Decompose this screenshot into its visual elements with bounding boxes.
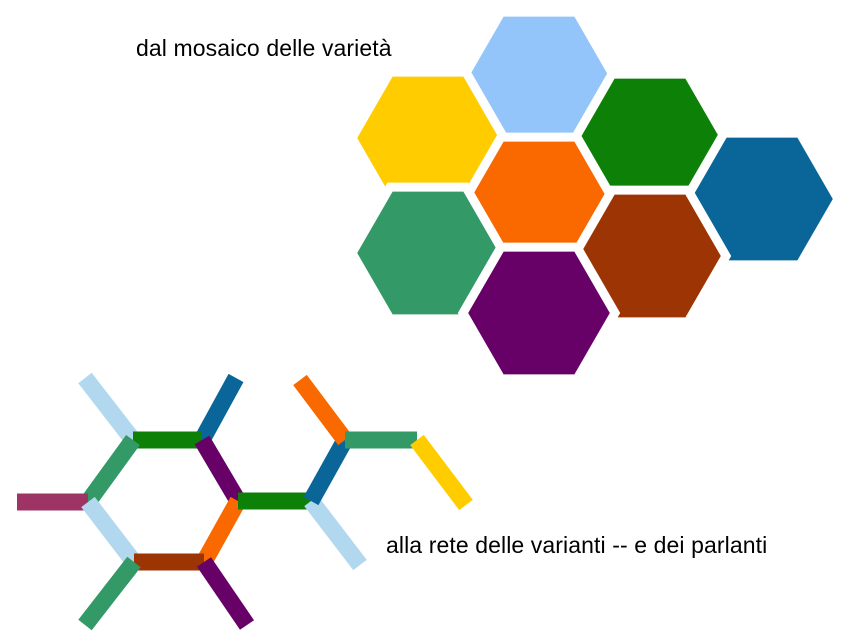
edge-purple-upper-right — [202, 440, 238, 501]
slide-canvas: dal mosaico delle varietà alla rete dell… — [0, 0, 858, 643]
edge-pale-blue-upper-left — [85, 378, 133, 440]
edge-purple-bottom-stub — [204, 562, 247, 625]
edge-sea-green-bottom-stub — [85, 562, 134, 625]
edge-yellow-right-stub — [417, 440, 466, 505]
caption-rete: alla rete delle varianti -- e dei parlan… — [386, 533, 767, 558]
edge-sea-green-upper-left — [88, 440, 133, 502]
edge-steel-blue-right — [311, 440, 345, 501]
edge-pale-blue-right-stub — [311, 501, 360, 565]
edge-steel-blue-upper — [202, 378, 236, 440]
caption-mosaico: dal mosaico delle varietà — [136, 36, 392, 61]
edge-orange-right-stub — [300, 380, 345, 440]
edge-pale-blue-lower-left — [88, 502, 134, 562]
edge-orange-lower-right — [204, 501, 238, 562]
